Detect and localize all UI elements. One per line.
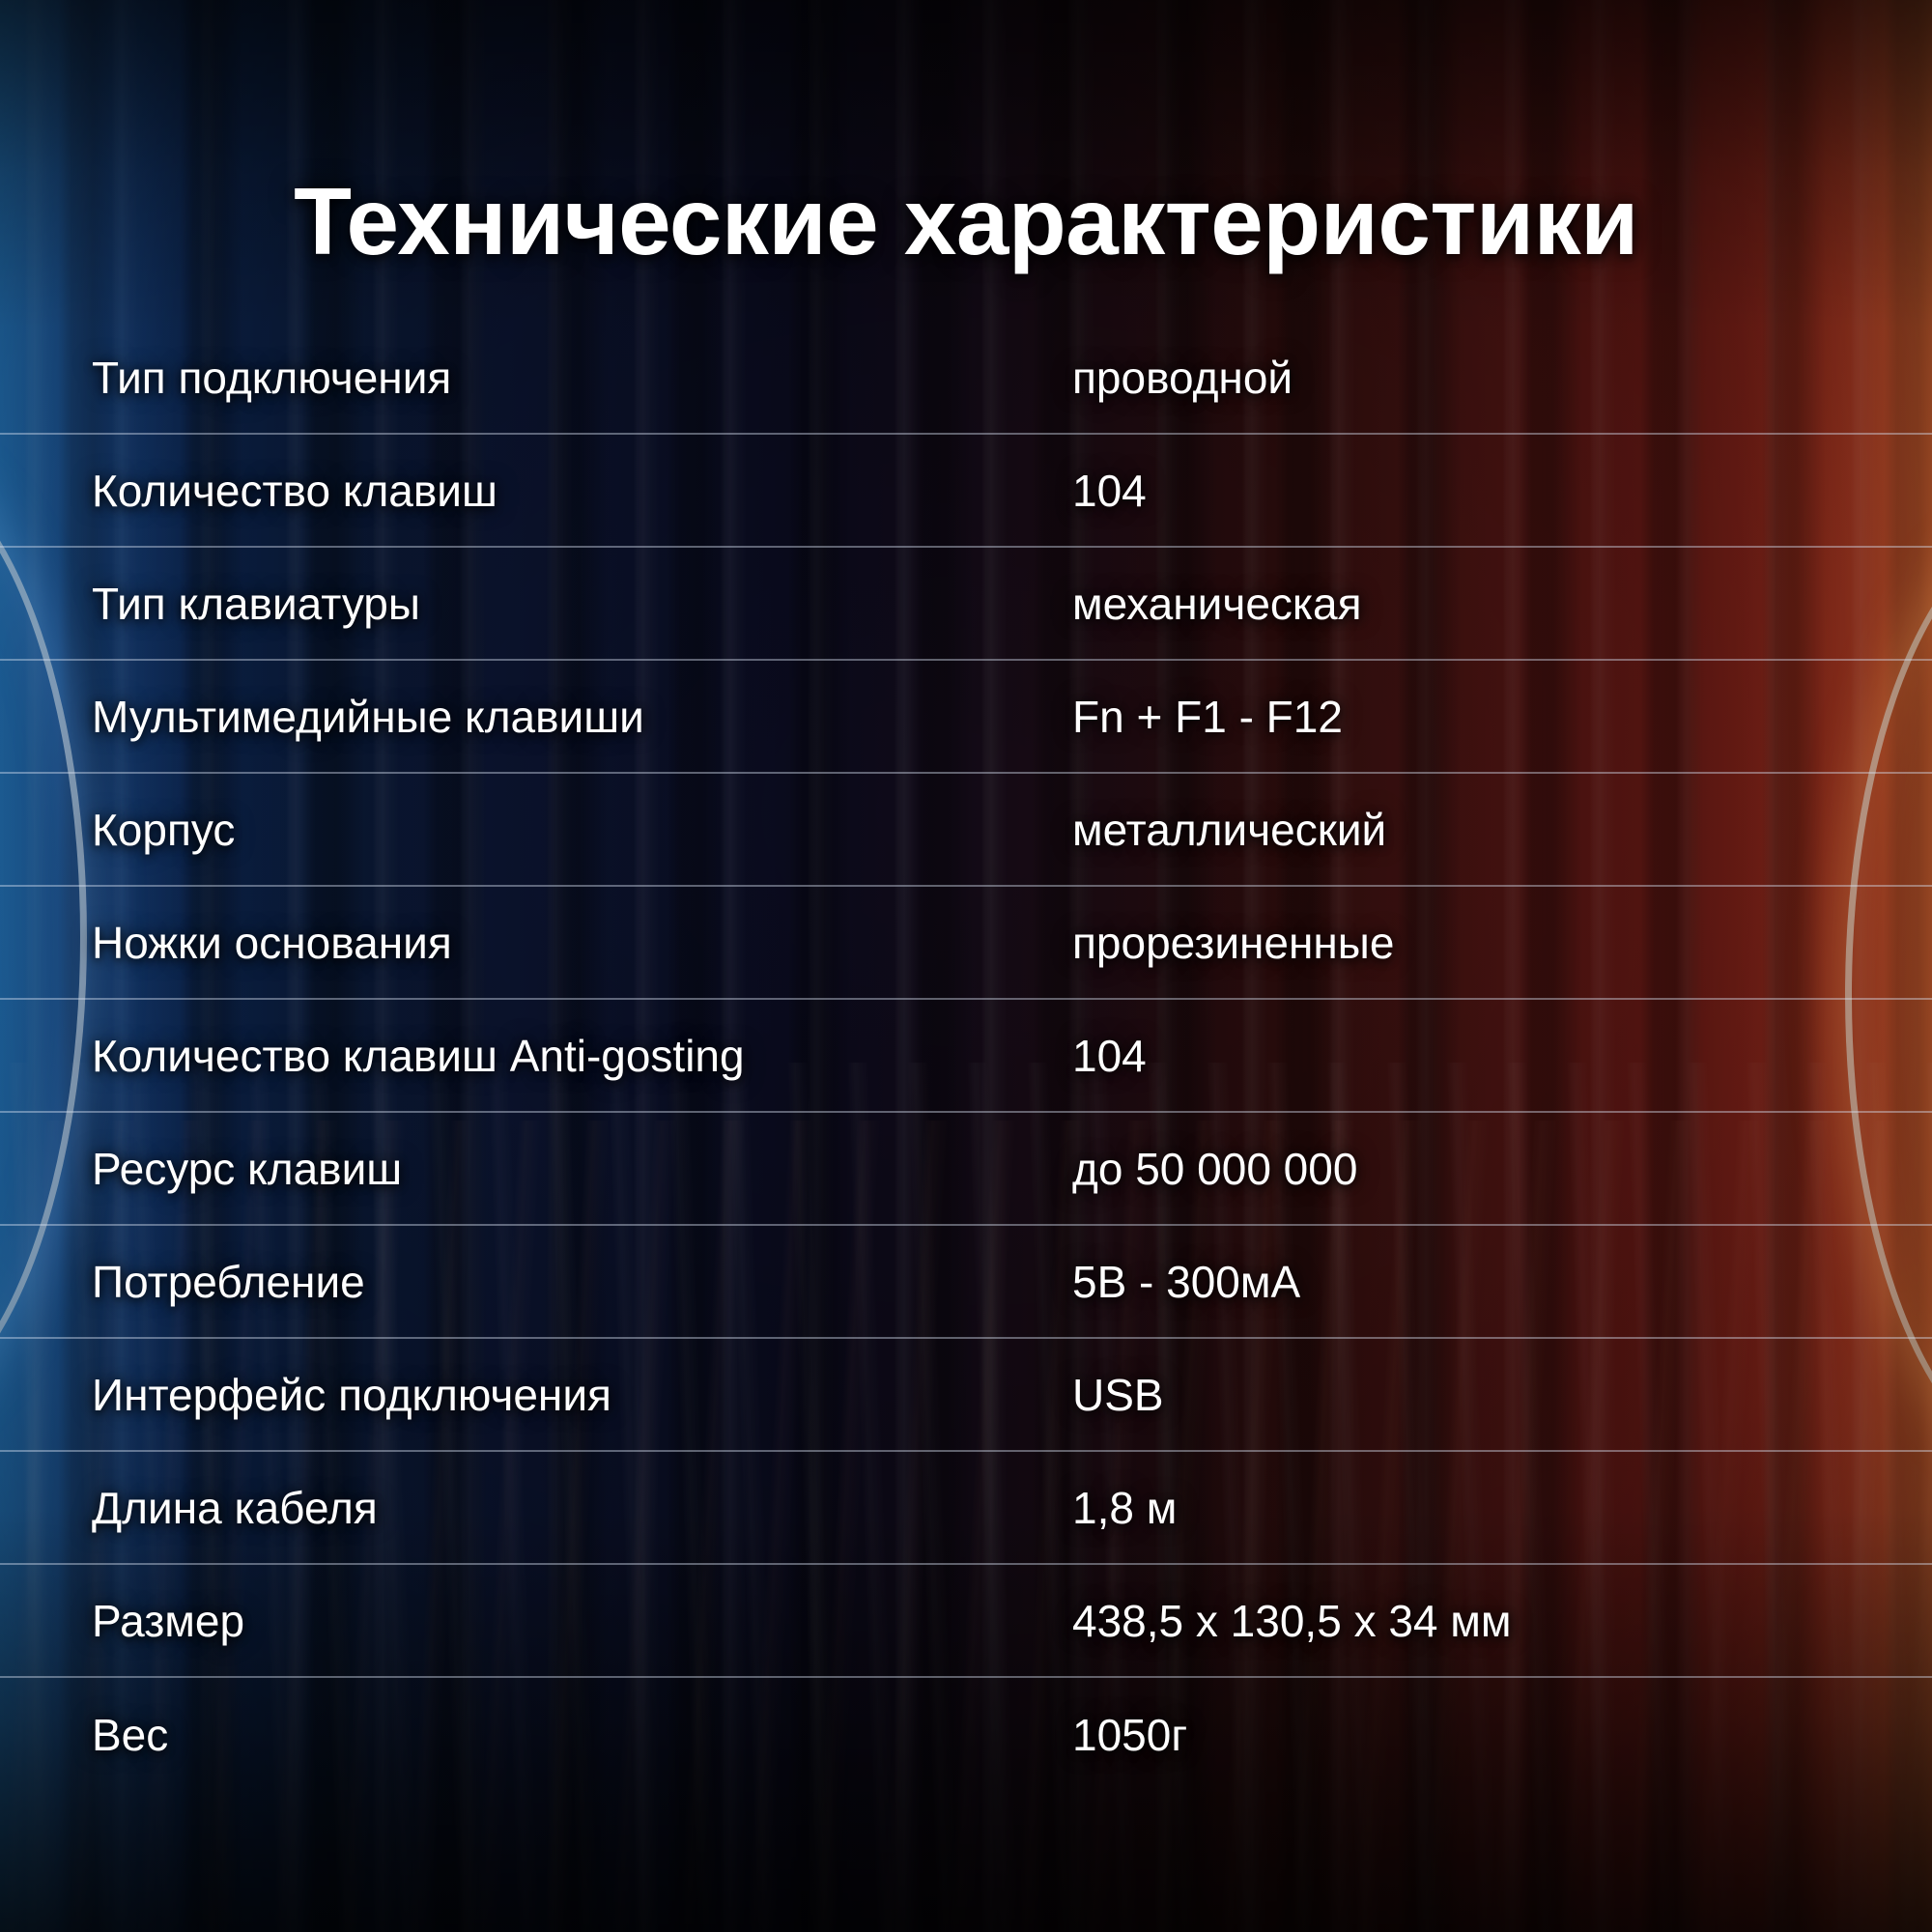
- spec-label: Длина кабеля: [0, 1482, 1072, 1534]
- table-row: Корпус металлический: [0, 774, 1932, 887]
- table-row: Ножки основания прорезиненные: [0, 887, 1932, 1000]
- table-row: Интерфейс подключения USB: [0, 1339, 1932, 1452]
- table-row: Ресурс клавиш до 50 000 000: [0, 1113, 1932, 1226]
- spec-value: 5B - 300мА: [1072, 1256, 1300, 1308]
- spec-label: Интерфейс подключения: [0, 1369, 1072, 1421]
- product-spec-slide: Технические характеристики Тип подключен…: [0, 0, 1932, 1932]
- table-row: Тип клавиатуры механическая: [0, 548, 1932, 661]
- spec-value: прорезиненные: [1072, 917, 1394, 969]
- spec-label: Ножки основания: [0, 917, 1072, 969]
- spec-label: Корпус: [0, 804, 1072, 856]
- spec-value: 1050г: [1072, 1709, 1187, 1761]
- spec-value: проводной: [1072, 352, 1293, 404]
- spec-label: Потребление: [0, 1256, 1072, 1308]
- spec-label: Мультимедийные клавиши: [0, 691, 1072, 743]
- spec-label: Тип клавиатуры: [0, 578, 1072, 630]
- spec-value: 104: [1072, 1030, 1147, 1082]
- spec-value: Fn + F1 - F12: [1072, 691, 1343, 743]
- table-row: Длина кабеля 1,8 м: [0, 1452, 1932, 1565]
- spec-value: до 50 000 000: [1072, 1143, 1357, 1195]
- spec-value: USB: [1072, 1369, 1164, 1421]
- table-row: Вес 1050г: [0, 1678, 1932, 1791]
- table-row: Количество клавиш 104: [0, 435, 1932, 548]
- spec-label: Тип подключения: [0, 352, 1072, 404]
- spec-label: Вес: [0, 1709, 1072, 1761]
- table-row: Потребление 5B - 300мА: [0, 1226, 1932, 1339]
- spec-value: 104: [1072, 465, 1147, 517]
- spec-label: Количество клавиш: [0, 465, 1072, 517]
- specifications-table: Тип подключения проводной Количество кла…: [0, 322, 1932, 1791]
- spec-value: 1,8 м: [1072, 1482, 1177, 1534]
- spec-value: металлический: [1072, 804, 1386, 856]
- spec-label: Количество клавиш Anti-gosting: [0, 1030, 1072, 1082]
- spec-value: 438,5 x 130,5 x 34 мм: [1072, 1595, 1512, 1647]
- table-row: Мультимедийные клавиши Fn + F1 - F12: [0, 661, 1932, 774]
- spec-label: Размер: [0, 1595, 1072, 1647]
- page-title: Технические характеристики: [0, 170, 1932, 274]
- spec-value: механическая: [1072, 578, 1362, 630]
- table-row: Количество клавиш Anti-gosting 104: [0, 1000, 1932, 1113]
- table-row: Тип подключения проводной: [0, 322, 1932, 435]
- table-row: Размер 438,5 x 130,5 x 34 мм: [0, 1565, 1932, 1678]
- spec-label: Ресурс клавиш: [0, 1143, 1072, 1195]
